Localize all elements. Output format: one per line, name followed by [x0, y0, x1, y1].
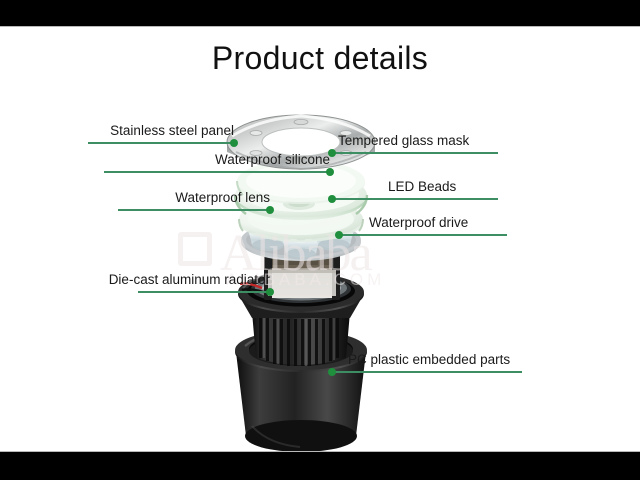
callout-pc-plastic-embedded-parts: PC plastic embedded parts — [332, 351, 522, 373]
callout-leader-line — [332, 198, 498, 200]
callout-label: Waterproof silicone — [215, 152, 330, 167]
canvas-bottom-hairline — [0, 451, 640, 452]
callout-label: LED Beads — [388, 179, 456, 194]
page-title: Product details — [0, 40, 640, 77]
callout-label: PC plastic embedded parts — [348, 352, 510, 367]
letterbox-bar-top — [0, 0, 640, 26]
callout-waterproof-silicone: Waterproof silicone — [104, 151, 330, 173]
callout-dot — [326, 168, 334, 176]
callout-die-cast-aluminum-radiator: Die-cast aluminum radiator — [78, 271, 270, 293]
callout-waterproof-lens: Waterproof lens — [118, 189, 270, 211]
callout-leader-line — [88, 142, 234, 144]
callout-leader-line — [332, 152, 498, 154]
callout-waterproof-drive: Waterproof drive — [339, 214, 507, 236]
image-canvas: Alibaba ALIBABA.COM Product details Stai… — [0, 26, 640, 452]
callout-dot — [266, 206, 274, 214]
callout-leader-line — [332, 371, 522, 373]
canvas-top-hairline — [0, 26, 640, 27]
callout-tempered-glass-mask: Tempered glass mask — [332, 132, 498, 154]
callout-label: Waterproof lens — [175, 190, 270, 205]
callout-label: Tempered glass mask — [338, 133, 469, 148]
callout-dot — [266, 288, 274, 296]
callout-led-beads: LED Beads — [332, 178, 498, 200]
callout-dot — [335, 231, 343, 239]
callout-leader-line — [118, 209, 270, 211]
callout-stainless-steel-panel: Stainless steel panel — [88, 122, 234, 144]
screenshot-root: Alibaba ALIBABA.COM Product details Stai… — [0, 0, 640, 480]
callout-leader-line — [339, 234, 507, 236]
callout-dot — [328, 195, 336, 203]
callout-dot — [328, 149, 336, 157]
callout-label: Stainless steel panel — [110, 123, 234, 138]
callout-label: Waterproof drive — [369, 215, 468, 230]
letterbox-bar-bottom — [0, 452, 640, 480]
callout-dot — [328, 368, 336, 376]
callout-label: Die-cast aluminum radiator — [109, 272, 270, 287]
callout-leader-line — [138, 291, 270, 293]
callout-leader-line — [104, 171, 330, 173]
callout-dot — [230, 139, 238, 147]
product-exploded-view — [0, 26, 640, 452]
